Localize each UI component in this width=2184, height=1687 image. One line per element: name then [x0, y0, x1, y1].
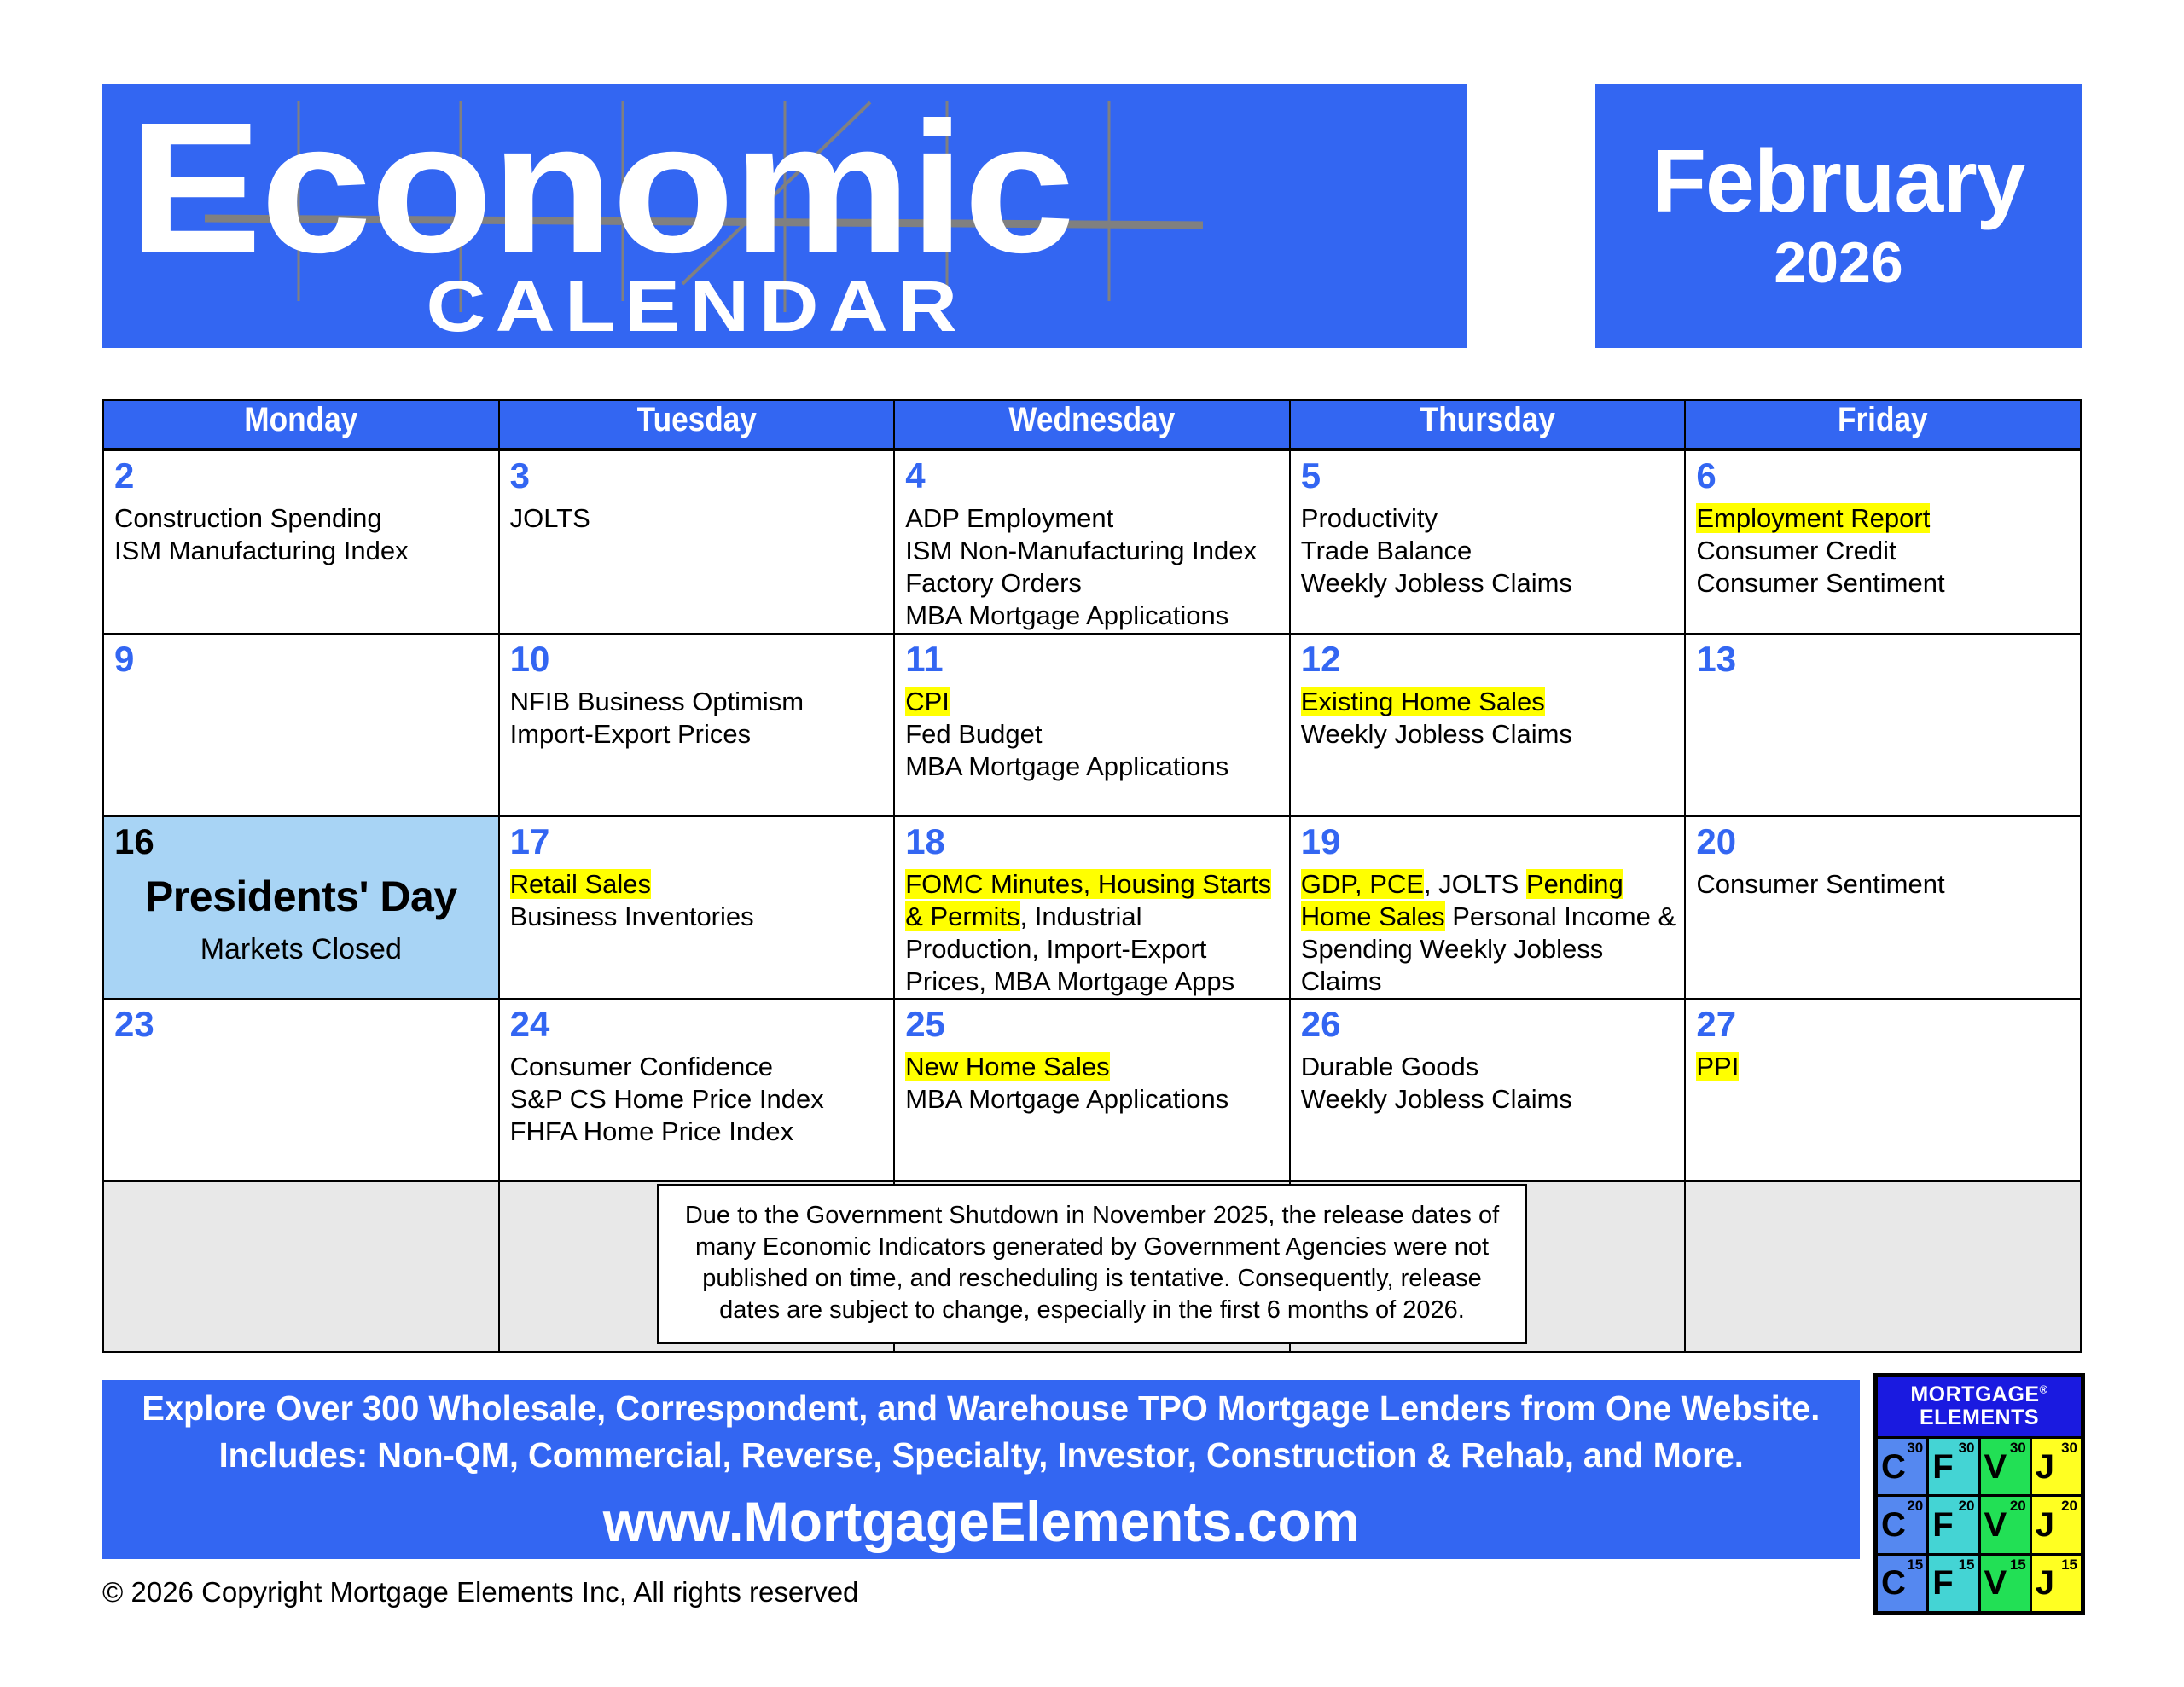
- calendar-week-row: 16Presidents' DayMarkets Closed17Retail …: [103, 816, 2081, 1000]
- event-item: Employment Report: [1696, 502, 2071, 535]
- logo-title: Economic: [102, 99, 1467, 277]
- calendar-week-row: 910NFIB Business OptimismImport-Export P…: [103, 634, 2081, 816]
- event-item: MBA Mortgage Applications: [905, 1083, 1281, 1116]
- element-tile-j-30: J30: [2032, 1439, 2081, 1494]
- day-cell-11[interactable]: 11CPIFed BudgetMBA Mortgage Applications: [894, 634, 1290, 816]
- holiday-name: Presidents' Day: [104, 872, 498, 921]
- element-symbol: C: [1881, 1450, 1906, 1484]
- day-number: 6: [1686, 451, 2080, 494]
- day-cell-10[interactable]: 10NFIB Business OptimismImport-Export Pr…: [499, 634, 895, 816]
- event-item: Fed Budget: [905, 718, 1281, 751]
- event-text: Fed Budget: [905, 719, 1042, 749]
- day-number: 17: [500, 817, 894, 860]
- day-number: 27: [1686, 1000, 2080, 1042]
- element-superscript: 20: [2061, 1499, 2077, 1513]
- event-highlighted: Employment Report: [1696, 503, 1930, 533]
- event-text: Weekly Jobless Claims: [1301, 719, 1572, 749]
- event-text: Trade Balance: [1301, 536, 1472, 565]
- day-header-label: Monday: [128, 401, 474, 439]
- event-text: Durable Goods: [1301, 1052, 1479, 1081]
- event-list: Construction SpendingISM Manufacturing I…: [104, 494, 498, 567]
- day-cell-6[interactable]: 6Employment ReportConsumer CreditConsume…: [1685, 449, 2081, 634]
- day-number: 10: [500, 635, 894, 677]
- event-list: GDP, PCE, JOLTS Pending Home Sales Perso…: [1291, 860, 1685, 999]
- day-number: 26: [1291, 1000, 1685, 1042]
- event-text: MBA Mortgage Applications: [905, 600, 1228, 630]
- event-highlighted: Existing Home Sales: [1301, 687, 1545, 716]
- event-item: Durable Goods: [1301, 1051, 1676, 1083]
- event-text: MBA Mortgage Applications: [905, 751, 1228, 781]
- element-superscript: 30: [2010, 1441, 2026, 1455]
- day-cell-9[interactable]: 9: [103, 634, 499, 816]
- event-list: Durable GoodsWeekly Jobless Claims: [1291, 1042, 1685, 1116]
- event-list: Existing Home SalesWeekly Jobless Claims: [1291, 677, 1685, 751]
- month-year-box: February 2026: [1595, 84, 2082, 348]
- element-symbol: V: [1984, 1450, 2007, 1484]
- event-item: ISM Manufacturing Index: [114, 535, 490, 567]
- day-number: 24: [500, 1000, 894, 1042]
- day-header-wednesday: Wednesday: [894, 400, 1290, 449]
- day-cell-27[interactable]: 27PPI: [1685, 999, 2081, 1181]
- day-cell-5[interactable]: 5ProductivityTrade BalanceWeekly Jobless…: [1290, 449, 1686, 634]
- event-highlighted: PPI: [1696, 1052, 1739, 1081]
- element-tile-j-20: J20: [2032, 1497, 2081, 1552]
- event-text: Productivity: [1301, 503, 1438, 533]
- element-symbol: F: [1932, 1508, 1953, 1542]
- empty-day-cell: [1685, 1181, 2081, 1352]
- event-highlighted: GDP, PCE: [1301, 869, 1424, 899]
- me-element-grid: C30F30V30J30C20F20V20J20C15F15V15J15: [1878, 1439, 2081, 1611]
- day-cell-26[interactable]: 26Durable GoodsWeekly Jobless Claims: [1290, 999, 1686, 1181]
- copyright-notice: © 2026 Copyright Mortgage Elements Inc, …: [102, 1576, 858, 1609]
- empty-day-cell: [103, 1181, 499, 1352]
- event-item: MBA Mortgage Applications: [905, 751, 1281, 783]
- element-tile-f-30: F30: [1929, 1439, 1978, 1494]
- event-list: PPI: [1686, 1042, 2080, 1083]
- event-list: ADP EmploymentISM Non-Manufacturing Inde…: [895, 494, 1289, 633]
- element-symbol: C: [1881, 1566, 1906, 1600]
- event-text: FHFA Home Price Index: [510, 1116, 794, 1146]
- day-number: 9: [104, 635, 498, 677]
- event-text: Consumer Confidence: [510, 1052, 773, 1081]
- event-text: Consumer Credit: [1696, 536, 1896, 565]
- element-tile-c-20: C20: [1878, 1497, 1926, 1552]
- element-superscript: 20: [1907, 1499, 1923, 1513]
- event-text: Weekly Jobless Claims: [1301, 1084, 1572, 1114]
- element-tile-f-15: F15: [1929, 1556, 1978, 1611]
- element-tile-v-30: V30: [1981, 1439, 2030, 1494]
- day-number: 25: [895, 1000, 1289, 1042]
- day-cell-18[interactable]: 18FOMC Minutes, Housing Starts & Permits…: [894, 816, 1290, 1000]
- me-logo-title-line2: ELEMENTS: [1920, 1406, 2039, 1429]
- element-tile-c-15: C15: [1878, 1556, 1926, 1611]
- event-text: Weekly Jobless Claims: [1301, 568, 1572, 598]
- event-list: NFIB Business OptimismImport-Export Pric…: [500, 677, 894, 751]
- day-header-label: Wednesday: [919, 401, 1265, 439]
- element-tile-f-20: F20: [1929, 1497, 1978, 1552]
- day-cell-13[interactable]: 13: [1685, 634, 2081, 816]
- economic-calendar-page: Economic CALENDAR February 2026 MondayTu…: [0, 0, 2184, 1687]
- day-number: 4: [895, 451, 1289, 494]
- day-header-label: Thursday: [1314, 401, 1660, 439]
- promo-line-1: Explore Over 300 Wholesale, Corresponden…: [142, 1385, 1821, 1432]
- element-symbol: V: [1984, 1508, 2007, 1542]
- event-item: Consumer Sentiment: [1696, 567, 2071, 600]
- event-item: Trade Balance: [1301, 535, 1676, 567]
- day-cell-25[interactable]: 25New Home SalesMBA Mortgage Application…: [894, 999, 1290, 1181]
- event-text: Construction Spending: [114, 503, 382, 533]
- element-symbol: J: [2036, 1508, 2054, 1542]
- event-text: JOLTS: [510, 503, 590, 533]
- event-highlighted: CPI: [905, 687, 950, 716]
- event-item: JOLTS: [510, 502, 886, 535]
- element-symbol: V: [1984, 1566, 2007, 1600]
- event-item: FHFA Home Price Index: [510, 1116, 886, 1148]
- day-number: 16: [104, 817, 498, 860]
- day-cell-24[interactable]: 24Consumer ConfidenceS&P CS Home Price I…: [499, 999, 895, 1181]
- event-list: Retail SalesBusiness Inventories: [500, 860, 894, 933]
- registered-trademark-icon: ®: [2040, 1383, 2048, 1396]
- event-list: New Home SalesMBA Mortgage Applications: [895, 1042, 1289, 1116]
- shutdown-notice: Due to the Government Shutdown in Novemb…: [657, 1184, 1527, 1344]
- element-symbol: J: [2036, 1566, 2054, 1600]
- logo-subtitle: CALENDAR: [102, 265, 1467, 348]
- event-item: Consumer Credit: [1696, 535, 2071, 567]
- day-cell-12[interactable]: 12Existing Home SalesWeekly Jobless Clai…: [1290, 634, 1686, 816]
- element-superscript: 20: [1959, 1499, 1975, 1513]
- event-text: Consumer Sentiment: [1696, 568, 1944, 598]
- event-item: Weekly Jobless Claims: [1301, 1083, 1676, 1116]
- event-text: ADP Employment: [905, 503, 1113, 533]
- event-item: Consumer Confidence: [510, 1051, 886, 1083]
- event-item: Productivity: [1301, 502, 1676, 535]
- event-list: Consumer Sentiment: [1686, 860, 2080, 901]
- event-list: CPIFed BudgetMBA Mortgage Applications: [895, 677, 1289, 783]
- event-list: Consumer ConfidenceS&P CS Home Price Ind…: [500, 1042, 894, 1148]
- day-number: 3: [500, 451, 894, 494]
- event-item: Existing Home Sales: [1301, 686, 1676, 718]
- day-number: 12: [1291, 635, 1685, 677]
- element-superscript: 15: [1907, 1557, 1923, 1572]
- website-url[interactable]: www.MortgageElements.com: [603, 1489, 1360, 1554]
- event-item: PPI: [1696, 1051, 2071, 1083]
- day-cell-4[interactable]: 4ADP EmploymentISM Non-Manufacturing Ind…: [894, 449, 1290, 634]
- day-number: 5: [1291, 451, 1685, 494]
- day-cell-20[interactable]: 20Consumer Sentiment: [1685, 816, 2081, 1000]
- event-item: Weekly Jobless Claims: [1301, 567, 1676, 600]
- holiday-subtext: Markets Closed: [104, 933, 498, 966]
- element-symbol: F: [1932, 1450, 1953, 1484]
- economic-calendar-logo: Economic CALENDAR: [102, 84, 1467, 348]
- me-logo-title-line1: MORTGAGE: [1910, 1383, 2039, 1406]
- event-item: Consumer Sentiment: [1696, 868, 2071, 901]
- day-header-tuesday: Tuesday: [499, 400, 895, 449]
- element-superscript: 30: [2061, 1441, 2077, 1455]
- event-text: Import-Export Prices: [510, 719, 752, 749]
- event-item: ADP Employment: [905, 502, 1281, 535]
- event-text: Consumer Sentiment: [1696, 869, 1944, 899]
- event-list: ProductivityTrade BalanceWeekly Jobless …: [1291, 494, 1685, 600]
- event-item: Retail Sales: [510, 868, 886, 901]
- page-header: Economic CALENDAR February 2026: [102, 84, 2082, 357]
- calendar-header-row: MondayTuesdayWednesdayThursdayFriday: [103, 400, 2081, 449]
- event-item: NFIB Business Optimism: [510, 686, 886, 718]
- event-highlighted: New Home Sales: [905, 1052, 1109, 1081]
- event-text: Factory Orders: [905, 568, 1082, 598]
- day-header-friday: Friday: [1685, 400, 2081, 449]
- day-cell-23[interactable]: 23: [103, 999, 499, 1181]
- event-item: S&P CS Home Price Index: [510, 1083, 886, 1116]
- element-tile-j-15: J15: [2032, 1556, 2081, 1611]
- calendar-week-row: 2Construction SpendingISM Manufacturing …: [103, 449, 2081, 634]
- day-cell-19[interactable]: 19GDP, PCE, JOLTS Pending Home Sales Per…: [1290, 816, 1686, 1000]
- month-year: 2026: [1774, 231, 1902, 295]
- event-text: ISM Non-Manufacturing Index: [905, 536, 1257, 565]
- event-item: MBA Mortgage Applications: [905, 600, 1281, 632]
- element-tile-v-20: V20: [1981, 1497, 2030, 1552]
- event-item: New Home Sales: [905, 1051, 1281, 1083]
- event-text: Business Inventories: [510, 901, 754, 931]
- event-item: Business Inventories: [510, 901, 886, 933]
- event-list: FOMC Minutes, Housing Starts & Permits, …: [895, 860, 1289, 999]
- day-cell-3[interactable]: 3JOLTS: [499, 449, 895, 634]
- day-header-monday: Monday: [103, 400, 499, 449]
- calendar-week-row: 2324Consumer ConfidenceS&P CS Home Price…: [103, 999, 2081, 1181]
- element-tile-c-30: C30: [1878, 1439, 1926, 1494]
- day-cell-2[interactable]: 2Construction SpendingISM Manufacturing …: [103, 449, 499, 634]
- promo-line-2: Includes: Non-QM, Commercial, Reverse, S…: [218, 1432, 1743, 1479]
- day-header-thursday: Thursday: [1290, 400, 1686, 449]
- mortgage-elements-logo[interactable]: MORTGAGE® ELEMENTS C30F30V30J30C20F20V20…: [1873, 1373, 2085, 1615]
- promo-banner[interactable]: Explore Over 300 Wholesale, Corresponden…: [102, 1380, 1860, 1559]
- event-item: Factory Orders: [905, 567, 1281, 600]
- day-header-label: Friday: [1710, 401, 2056, 439]
- event-text: ISM Manufacturing Index: [114, 536, 409, 565]
- event-item: ISM Non-Manufacturing Index: [905, 535, 1281, 567]
- event-text: , JOLTS: [1424, 869, 1526, 899]
- element-symbol: C: [1881, 1508, 1906, 1542]
- event-item: Weekly Jobless Claims: [1301, 718, 1676, 751]
- day-cell-16[interactable]: 16Presidents' DayMarkets Closed: [103, 816, 499, 1000]
- event-item: Construction Spending: [114, 502, 490, 535]
- element-superscript: 30: [1907, 1441, 1923, 1455]
- day-number: 23: [104, 1000, 498, 1042]
- day-number: 19: [1291, 817, 1685, 860]
- day-number: 2: [104, 451, 498, 494]
- day-number: 20: [1686, 817, 2080, 860]
- element-symbol: F: [1932, 1566, 1953, 1600]
- event-text: NFIB Business Optimism: [510, 687, 804, 716]
- element-symbol: J: [2036, 1450, 2054, 1484]
- event-text: MBA Mortgage Applications: [905, 1084, 1228, 1114]
- element-superscript: 20: [2010, 1499, 2026, 1513]
- month-name: February: [1652, 137, 2024, 226]
- me-logo-title: MORTGAGE® ELEMENTS: [1878, 1377, 2081, 1436]
- element-superscript: 30: [1959, 1441, 1975, 1455]
- day-header-label: Tuesday: [523, 401, 869, 439]
- event-text: S&P CS Home Price Index: [510, 1084, 824, 1114]
- element-tile-v-15: V15: [1981, 1556, 2030, 1611]
- day-cell-17[interactable]: 17Retail SalesBusiness Inventories: [499, 816, 895, 1000]
- event-list: Employment ReportConsumer CreditConsumer…: [1686, 494, 2080, 600]
- element-superscript: 15: [2010, 1557, 2026, 1572]
- element-superscript: 15: [2061, 1557, 2077, 1572]
- event-item: Import-Export Prices: [510, 718, 886, 751]
- event-highlighted: Retail Sales: [510, 869, 651, 899]
- day-number: 18: [895, 817, 1289, 860]
- element-superscript: 15: [1959, 1557, 1975, 1572]
- day-number: 13: [1686, 635, 2080, 677]
- event-item: CPI: [905, 686, 1281, 718]
- day-number: 11: [895, 635, 1289, 677]
- event-list: JOLTS: [500, 494, 894, 535]
